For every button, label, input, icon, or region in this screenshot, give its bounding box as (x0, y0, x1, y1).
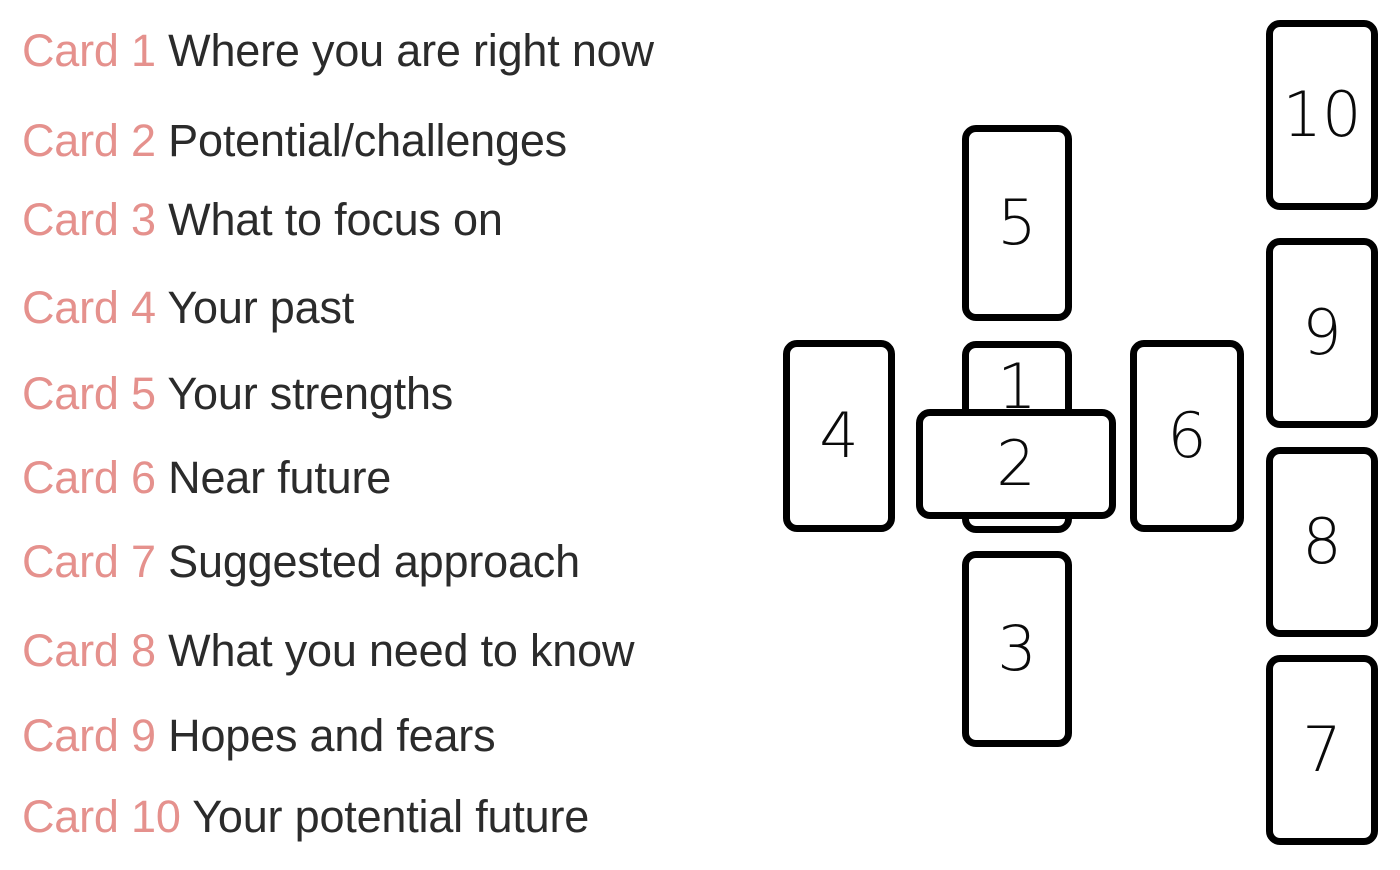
spread-card-7-number: 7 (1302, 719, 1341, 781)
spread-card-7[interactable]: 7 (1266, 655, 1378, 845)
spread-card-10-number: 10 (1283, 84, 1362, 146)
spread-card-4-number: 4 (819, 405, 858, 467)
spread-card-10[interactable]: 10 (1266, 20, 1378, 210)
spread-card-6[interactable]: 6 (1130, 340, 1244, 532)
spread-card-6-number: 6 (1167, 405, 1206, 467)
spread-card-2-number: 2 (996, 433, 1035, 495)
spread-card-3-number: 3 (997, 618, 1036, 680)
spread-card-8-number: 8 (1302, 511, 1341, 573)
spread-card-3[interactable]: 3 (962, 551, 1072, 747)
spread-card-2[interactable]: 2 (916, 409, 1116, 519)
spread-card-4[interactable]: 4 (783, 340, 895, 532)
spread-card-5-number: 5 (997, 192, 1036, 254)
spread-card-9[interactable]: 9 (1266, 238, 1378, 428)
spread-card-5[interactable]: 5 (962, 125, 1072, 321)
celtic-cross-spread-diagram: 5 4 1 2 6 3 10 9 8 7 (0, 0, 1400, 870)
spread-card-9-number: 9 (1302, 302, 1341, 364)
spread-card-8[interactable]: 8 (1266, 447, 1378, 637)
